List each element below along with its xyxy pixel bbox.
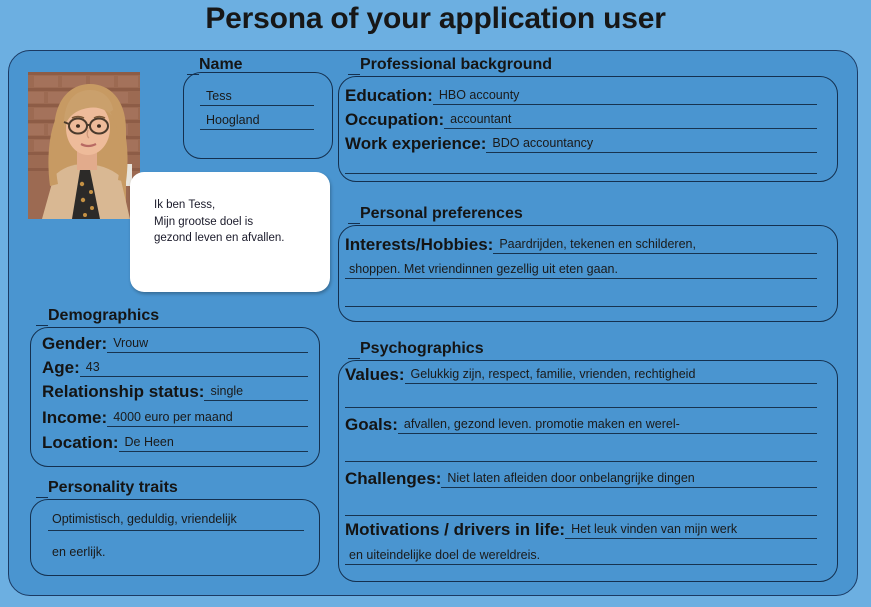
name-first-row[interactable]: Tess: [200, 90, 314, 106]
goals-row[interactable]: Goals: afvallen, gezond leven. promotie …: [345, 416, 817, 434]
page-title: Persona of your application user: [0, 2, 871, 36]
name-last-row[interactable]: Hoogland: [200, 114, 314, 130]
income-value[interactable]: 4000 euro per maand: [107, 411, 308, 427]
personality-traits-caption: Personality traits: [48, 479, 178, 498]
education-value[interactable]: HBO accounty: [433, 89, 817, 105]
persona-quote-bubble: Ik ben Tess, Mijn grootse doel is gezond…: [130, 172, 330, 292]
location-label: Location:: [42, 434, 119, 452]
education-row[interactable]: Education: HBO accounty: [345, 87, 817, 105]
education-label: Education:: [345, 87, 433, 105]
motivations-value-line1[interactable]: Het leuk vinden van mijn werk: [565, 523, 817, 539]
values-value-line1[interactable]: Gelukkig zijn, respect, familie, vriende…: [405, 368, 817, 384]
interests-row[interactable]: Interests/Hobbies: Paardrijden, tekenen …: [345, 236, 817, 254]
motivations-label: Motivations / drivers in life:: [345, 521, 565, 539]
demographics-caption: Demographics: [48, 307, 159, 326]
occupation-value[interactable]: accountant: [444, 113, 817, 129]
work-experience-value[interactable]: BDO accountancy: [486, 137, 817, 153]
personality-traits-line1[interactable]: Optimistisch, geduldig, vriendelijk: [48, 513, 304, 531]
interests-label: Interests/Hobbies:: [345, 236, 493, 254]
personality-traits-box: [30, 499, 320, 576]
personality-traits-line2[interactable]: en eerlijk.: [48, 546, 304, 564]
gender-label: Gender:: [42, 335, 107, 353]
income-label: Income:: [42, 409, 107, 427]
portrait-illustration: [28, 72, 140, 219]
motivations-row[interactable]: Motivations / drivers in life: Het leuk …: [345, 521, 817, 539]
psychographics-caption: Psychographics: [360, 340, 484, 359]
challenges-row[interactable]: Challenges: Niet laten afleiden door onb…: [345, 470, 817, 488]
challenges-label: Challenges:: [345, 470, 441, 488]
last-name-value[interactable]: Hoogland: [200, 114, 314, 130]
gender-value[interactable]: Vrouw: [107, 337, 308, 353]
persona-photo: [28, 72, 140, 219]
persona-template: Persona of your application user: [0, 0, 871, 607]
motivations-value-line2[interactable]: en uiteindelijke doel de wereldreis.: [345, 549, 817, 565]
relationship-status-label: Relationship status:: [42, 383, 204, 401]
first-name-value[interactable]: Tess: [200, 90, 314, 106]
professional-background-caption: Professional background: [360, 56, 552, 75]
interests-value-line3[interactable]: [345, 291, 817, 307]
goals-value-line2[interactable]: [345, 446, 817, 462]
relationship-status-value[interactable]: single: [204, 385, 308, 401]
location-row[interactable]: Location: De Heen: [42, 434, 308, 452]
occupation-row[interactable]: Occupation: accountant: [345, 111, 817, 129]
goals-label: Goals:: [345, 416, 398, 434]
challenges-value-line2[interactable]: [345, 500, 817, 516]
goals-value-line1[interactable]: afvallen, gezond leven. promotie maken e…: [398, 418, 817, 434]
gender-row[interactable]: Gender: Vrouw: [42, 335, 308, 353]
quote-text: Ik ben Tess, Mijn grootse doel is gezond…: [154, 197, 284, 247]
age-row[interactable]: Age: 43: [42, 359, 308, 377]
relationship-status-row[interactable]: Relationship status: single: [42, 383, 308, 401]
interests-value-line2[interactable]: shoppen. Met vriendinnen gezellig uit et…: [345, 263, 817, 279]
age-value[interactable]: 43: [80, 361, 308, 377]
work-experience-row[interactable]: Work experience: BDO accountancy: [345, 135, 817, 153]
personal-preferences-caption: Personal preferences: [360, 205, 523, 224]
challenges-value-line1[interactable]: Niet laten afleiden door onbelangrijke d…: [441, 472, 817, 488]
values-label: Values:: [345, 366, 405, 384]
professional-background-extra-line[interactable]: [345, 160, 817, 174]
location-value[interactable]: De Heen: [119, 436, 309, 452]
income-row[interactable]: Income: 4000 euro per maand: [42, 409, 308, 427]
age-label: Age:: [42, 359, 80, 377]
values-value-line2[interactable]: [345, 392, 817, 408]
occupation-label: Occupation:: [345, 111, 444, 129]
interests-value-line1[interactable]: Paardrijden, tekenen en schilderen,: [493, 238, 817, 254]
values-row[interactable]: Values: Gelukkig zijn, respect, familie,…: [345, 366, 817, 384]
work-experience-label: Work experience:: [345, 135, 486, 153]
